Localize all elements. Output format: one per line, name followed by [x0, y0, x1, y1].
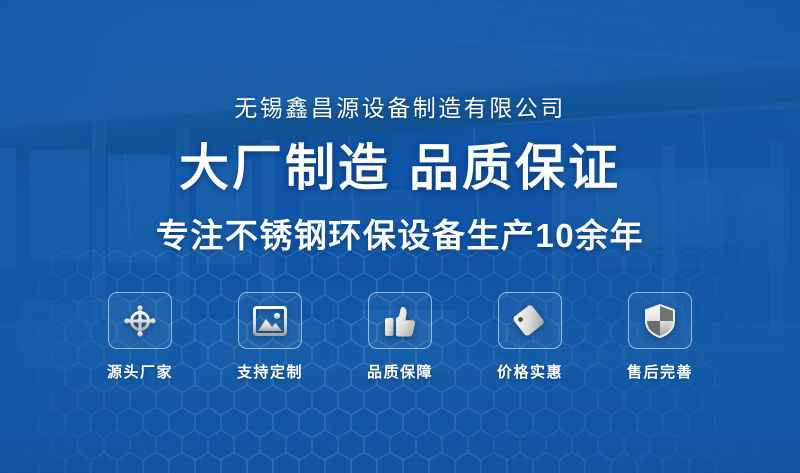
company-name: 无锡鑫昌源设备制造有限公司 [234, 89, 566, 123]
feature-label: 品质保障 [367, 361, 433, 382]
feature-label: 售后完善 [627, 361, 693, 382]
feature-icon-box [628, 292, 692, 349]
feature-item-affordable-price[interactable]: 价格实惠 [498, 292, 562, 382]
shield-icon [645, 304, 675, 338]
banner-content: 无锡鑫昌源设备制造有限公司 大厂制造品质保证 专注不锈钢环保设备生产10余年 [0, 0, 800, 473]
feature-icon-box [238, 292, 302, 349]
headline: 大厂制造品质保证 [179, 143, 621, 193]
headline-part-2: 品质保证 [409, 140, 621, 196]
subheadline: 专注不锈钢环保设备生产10余年 [156, 219, 644, 252]
promo-banner: 无锡鑫昌源设备制造有限公司 大厂制造品质保证 专注不锈钢环保设备生产10余年 [0, 0, 800, 473]
feature-label: 价格实惠 [497, 361, 563, 382]
price-tag-icon [513, 304, 547, 338]
thumbs-up-icon [384, 304, 416, 338]
picture-image-icon [253, 306, 287, 336]
crosshair-target-icon [123, 304, 157, 338]
feature-item-source-factory[interactable]: 源头厂家 [108, 292, 172, 382]
feature-icon-box [498, 292, 562, 349]
feature-item-after-sales[interactable]: 售后完善 [628, 292, 692, 382]
feature-item-custom-support[interactable]: 支持定制 [238, 292, 302, 382]
feature-list: 源头厂家 [0, 292, 800, 382]
feature-icon-box [368, 292, 432, 349]
feature-label: 源头厂家 [107, 361, 173, 382]
feature-label: 支持定制 [237, 361, 303, 382]
headline-part-1: 大厂制造 [179, 140, 391, 196]
feature-icon-box [108, 292, 172, 349]
feature-item-quality-guarantee[interactable]: 品质保障 [368, 292, 432, 382]
